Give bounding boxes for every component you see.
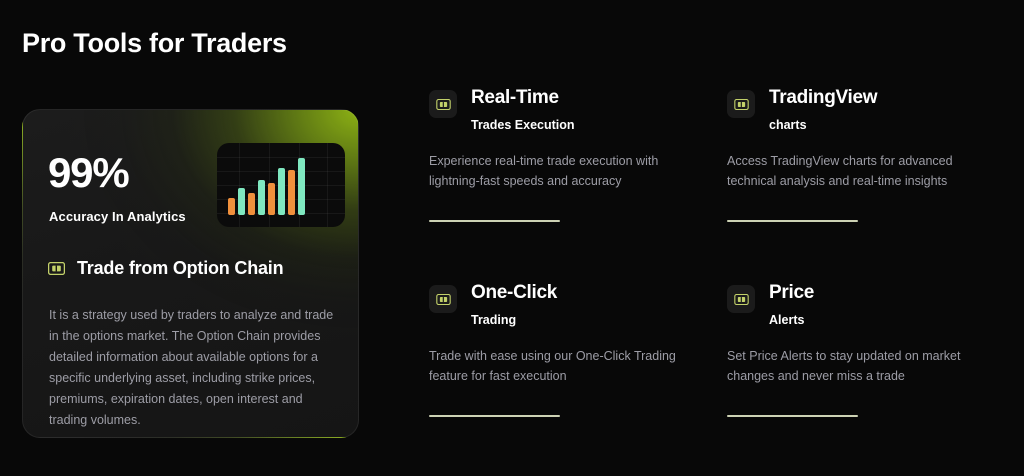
chart-bar (258, 180, 265, 215)
feature-subtitle: Trading (471, 312, 557, 328)
feature-one-click[interactable]: One-Click Trading Trade with ease using … (429, 281, 727, 476)
chart-bar (298, 158, 305, 215)
feature-title: One-Click (471, 281, 557, 305)
chart-bar (248, 193, 255, 215)
chart-bar (238, 188, 245, 215)
feature-divider (429, 415, 560, 417)
feature-price-alerts[interactable]: Price Alerts Set Price Alerts to stay up… (727, 281, 999, 476)
option-chain-card[interactable]: 99% Accuracy In Analytics Trade from Opt… (22, 109, 359, 438)
card-chip-icon (429, 285, 457, 313)
feature-titles: TradingView charts (769, 86, 877, 133)
feature-description: Access TradingView charts for advanced t… (727, 151, 977, 191)
feature-titles: One-Click Trading (471, 281, 557, 328)
feature-divider (727, 415, 858, 417)
feature-subtitle: charts (769, 117, 877, 133)
card-chip-icon (429, 90, 457, 118)
feature-header: TradingView charts (727, 86, 981, 133)
feature-description: Experience real-time trade execution wit… (429, 151, 679, 191)
accuracy-stat-value: 99% (48, 149, 128, 197)
card-chip-icon (727, 285, 755, 313)
option-chain-description: It is a strategy used by traders to anal… (49, 305, 337, 431)
feature-real-time[interactable]: Real-Time Trades Execution Experience re… (429, 86, 727, 281)
accuracy-stat-label: Accuracy In Analytics (49, 209, 186, 224)
feature-titles: Price Alerts (769, 281, 814, 328)
feature-subtitle: Alerts (769, 312, 814, 328)
chart-bar (288, 170, 295, 215)
chart-bar (268, 183, 275, 215)
card-chip-icon (727, 90, 755, 118)
feature-description: Trade with ease using our One-Click Trad… (429, 346, 679, 386)
analytics-bar-chart (217, 143, 345, 227)
chart-bars (228, 153, 334, 215)
feature-title: TradingView (769, 86, 877, 110)
option-chain-title: Trade from Option Chain (77, 258, 283, 279)
feature-description: Set Price Alerts to stay updated on mark… (727, 346, 977, 386)
feature-title: Price (769, 281, 814, 305)
feature-subtitle: Trades Execution (471, 117, 575, 133)
feature-grid: Real-Time Trades Execution Experience re… (429, 86, 999, 476)
chart-bar (278, 168, 285, 215)
feature-tradingview[interactable]: TradingView charts Access TradingView ch… (727, 86, 999, 281)
feature-header: One-Click Trading (429, 281, 709, 328)
page-title: Pro Tools for Traders (22, 28, 287, 59)
feature-title: Real-Time (471, 86, 575, 110)
option-chain-heading: Trade from Option Chain (48, 258, 283, 279)
feature-header: Price Alerts (727, 281, 981, 328)
feature-header: Real-Time Trades Execution (429, 86, 709, 133)
feature-divider (727, 220, 858, 222)
feature-divider (429, 220, 560, 222)
chart-bar (228, 198, 235, 215)
feature-titles: Real-Time Trades Execution (471, 86, 575, 133)
card-chip-icon (48, 262, 65, 275)
